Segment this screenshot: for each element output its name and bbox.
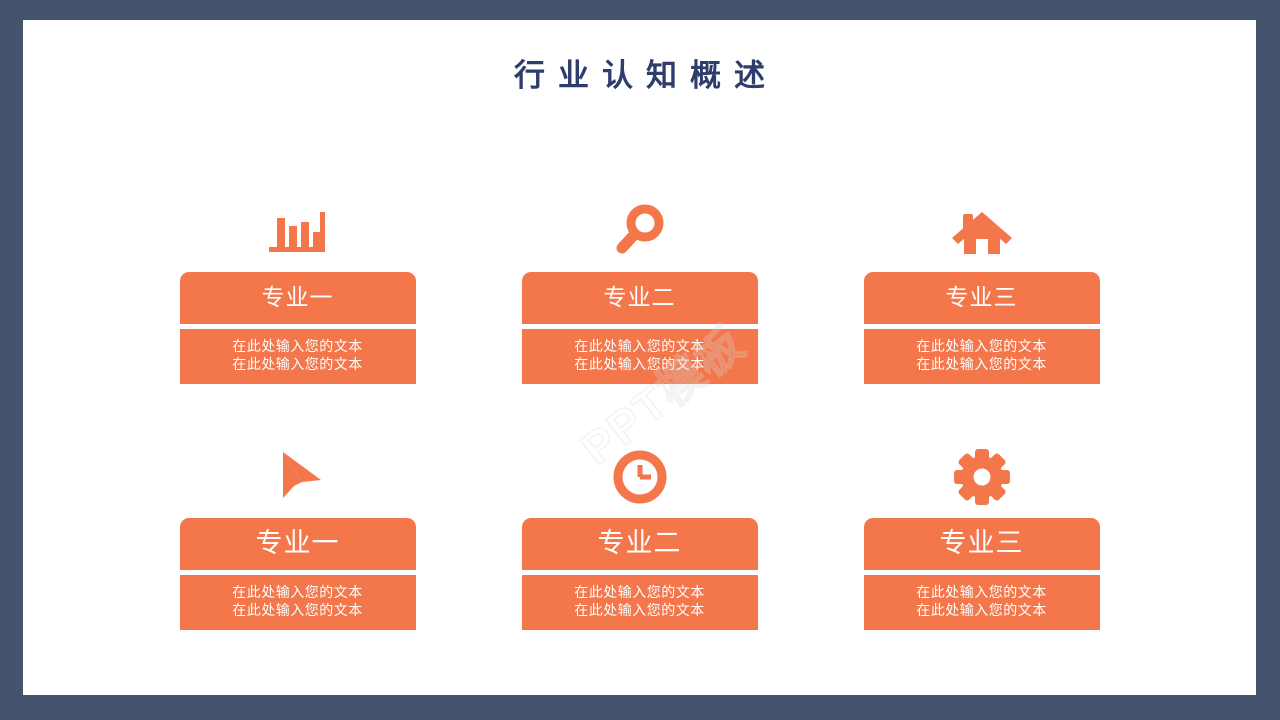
card-body: 在此处输入您的文本 在此处输入您的文本 [864,575,1100,630]
card-body-line: 在此处输入您的文本 [864,356,1100,374]
gear-icon [953,444,1011,506]
card-header: 专业一 [180,518,416,570]
card-header: 专业三 [864,518,1100,570]
slide-frame: PPT模板 行业认知概述 [0,0,1280,720]
card-header: 专业三 [864,272,1100,324]
card-search[interactable]: 专业二 在此处输入您的文本 在此处输入您的文本 [522,198,758,384]
card-body-line: 在此处输入您的文本 [864,584,1100,602]
card-body-line: 在此处输入您的文本 [180,584,416,602]
card-body: 在此处输入您的文本 在此处输入您的文本 [180,329,416,384]
card-body: 在此处输入您的文本 在此处输入您的文本 [522,329,758,384]
card-body: 在此处输入您的文本 在此处输入您的文本 [522,575,758,630]
slide-canvas: PPT模板 行业认知概述 [23,20,1256,695]
card-body: 在此处输入您的文本 在此处输入您的文本 [180,575,416,630]
card-body-line: 在此处输入您的文本 [522,584,758,602]
card-body-line: 在此处输入您的文本 [522,602,758,620]
card-title: 专业三 [864,272,1100,324]
card-body: 在此处输入您的文本 在此处输入您的文本 [864,329,1100,384]
card-home[interactable]: 专业三 在此处输入您的文本 在此处输入您的文本 [864,198,1100,384]
card-title: 专业一 [180,518,416,570]
card-row-2: 专业一 在此处输入您的文本 在此处输入您的文本 [23,444,1256,630]
card-body-line: 在此处输入您的文本 [864,338,1100,356]
card-row-1: 专业一 在此处输入您的文本 在此处输入您的文本 [23,198,1256,384]
card-body-line: 在此处输入您的文本 [522,356,758,374]
card-title: 专业三 [864,518,1100,570]
card-cursor[interactable]: 专业一 在此处输入您的文本 在此处输入您的文本 [180,444,416,630]
card-body-line: 在此处输入您的文本 [180,356,416,374]
card-header: 专业二 [522,518,758,570]
card-gear[interactable]: 专业三 在此处输入您的文本 在此处输入您的文本 [864,444,1100,630]
bar-chart-icon [267,198,329,260]
card-body-line: 在此处输入您的文本 [522,338,758,356]
card-body-line: 在此处输入您的文本 [864,602,1100,620]
home-icon [949,198,1015,260]
card-header: 专业一 [180,272,416,324]
card-title: 专业一 [180,272,416,324]
card-clock[interactable]: 专业二 在此处输入您的文本 在此处输入您的文本 [522,444,758,630]
card-title: 专业二 [522,272,758,324]
cursor-arrow-icon [267,444,329,506]
clock-icon [611,444,669,506]
card-body-line: 在此处输入您的文本 [180,338,416,356]
search-icon [609,198,671,260]
card-title: 专业二 [522,518,758,570]
card-body-line: 在此处输入您的文本 [180,602,416,620]
card-header: 专业二 [522,272,758,324]
page-title: 行业认知概述 [23,50,1256,95]
card-bar-chart[interactable]: 专业一 在此处输入您的文本 在此处输入您的文本 [180,198,416,384]
